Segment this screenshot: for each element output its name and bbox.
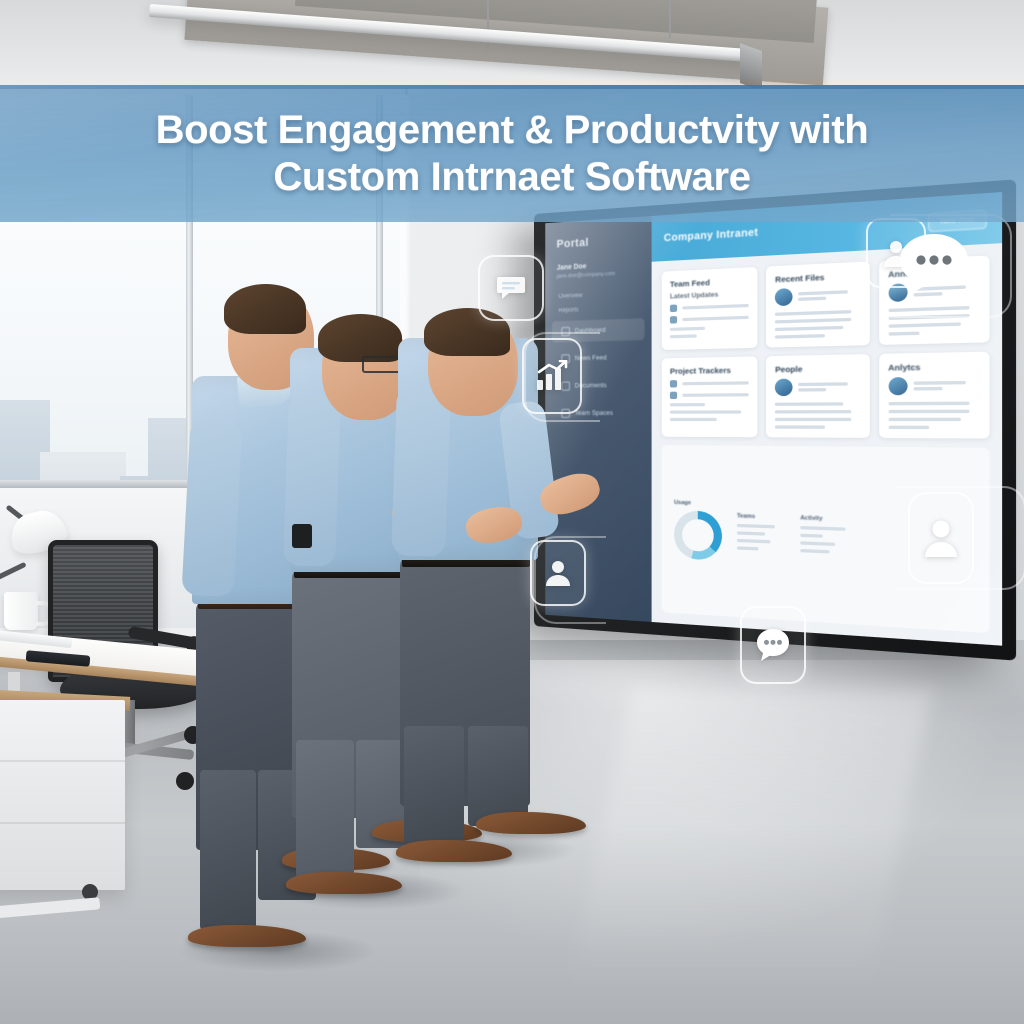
body-line — [775, 402, 843, 406]
author-name — [798, 290, 847, 295]
pedestal-drawer-line — [0, 822, 125, 824]
legend-line — [737, 524, 775, 529]
headline-line-2: Custom Intrnaet Software — [156, 154, 869, 201]
engagement-donut-chart — [674, 510, 722, 560]
body-line — [888, 402, 970, 406]
author-lines — [798, 382, 860, 392]
user-profile-icon-left[interactable] — [530, 540, 586, 606]
leg-left — [404, 726, 464, 846]
list-item — [670, 379, 749, 387]
author-name — [913, 381, 966, 385]
body-line — [775, 326, 843, 331]
author-meta — [913, 387, 943, 391]
sidebar-user-profile[interactable]: Jane Doe jane.doe@company.com — [545, 256, 651, 291]
page-title: Boost Engagement & Productvity with Cust… — [156, 107, 869, 201]
pendant-wire — [487, 0, 489, 53]
user-profile-icon-right[interactable] — [908, 492, 974, 584]
legend-line — [737, 546, 758, 550]
legend-line — [800, 526, 845, 531]
card-projects[interactable]: Project Trackers — [662, 356, 758, 437]
bullet-icon — [670, 392, 677, 399]
chart-heading: Activity — [800, 515, 850, 523]
pendant-light-end — [740, 43, 762, 91]
body-line — [888, 426, 928, 429]
body-line — [775, 310, 851, 316]
card-title: Recent Files — [775, 271, 860, 285]
card-meta — [670, 418, 717, 421]
body-line — [775, 410, 851, 413]
arm-left — [391, 387, 451, 557]
leg-right — [468, 726, 528, 826]
card-title: Anlytcs — [888, 361, 979, 373]
sidebar-logo: Portal — [545, 216, 651, 261]
author-lines — [798, 289, 860, 301]
card-meta — [670, 410, 741, 413]
hair — [318, 314, 402, 362]
list-text — [682, 316, 749, 321]
list-text — [682, 304, 749, 310]
arm — [181, 419, 242, 597]
chart-col-activity: Activity — [800, 515, 850, 554]
card-author — [775, 378, 860, 396]
card-recent[interactable]: Recent Files — [766, 261, 869, 347]
chart-heading: Teams — [737, 513, 785, 521]
list-item — [670, 302, 749, 312]
card-title: People — [775, 363, 860, 374]
hair — [224, 284, 306, 334]
body-line — [888, 410, 970, 414]
legend-line — [800, 549, 830, 554]
chart-heading: Usage — [674, 500, 722, 508]
legend-line — [800, 534, 822, 538]
body-line — [775, 334, 825, 339]
desk-pedestal — [0, 700, 125, 890]
promo-image: Portal Jane Doe jane.doe@company.com Ove… — [0, 0, 1024, 1024]
author-meta — [798, 297, 825, 301]
chart-col-teams: Teams — [737, 513, 785, 551]
headline-line-1: Boost Engagement & Productvity with — [156, 108, 869, 152]
body-line — [888, 418, 961, 421]
dashboard-title: Company Intranet — [664, 226, 759, 243]
floor-reflection — [568, 690, 932, 990]
wrist-watch-icon — [292, 524, 312, 548]
card-meta — [670, 334, 697, 338]
bullet-icon — [670, 305, 677, 313]
avatar — [775, 288, 793, 306]
card-analytics[interactable]: Anlytcs — [879, 352, 990, 439]
body-line — [775, 425, 825, 428]
avatar — [775, 379, 793, 397]
body-line — [888, 332, 919, 336]
list-text — [682, 381, 749, 385]
bullet-icon — [670, 316, 677, 324]
author-name — [798, 382, 847, 386]
leg-left — [296, 740, 354, 878]
list-item — [670, 314, 749, 324]
legend-line — [737, 531, 766, 535]
pendant-wire-2 — [669, 0, 671, 38]
body-line — [888, 322, 961, 328]
list-text — [682, 393, 749, 397]
avatar — [888, 377, 907, 395]
card-meta — [670, 403, 705, 406]
eyeglasses-icon — [362, 356, 402, 373]
card-author — [775, 285, 860, 306]
chat-dots-icon[interactable] — [898, 232, 970, 303]
pedestal-drawer-line — [0, 760, 125, 762]
chart-col-usage: Usage — [674, 500, 722, 561]
body-line — [775, 318, 851, 324]
author-meta — [798, 388, 825, 392]
legend-line — [737, 539, 770, 544]
leg-left — [200, 770, 256, 930]
list-item — [670, 391, 749, 399]
body-line — [775, 418, 851, 421]
card-people[interactable]: People — [766, 354, 869, 438]
card-meta — [670, 327, 705, 331]
chat-dots-icon-lower[interactable] — [740, 606, 806, 684]
message-icon[interactable] — [478, 255, 544, 321]
bar-chart-icon[interactable] — [522, 338, 582, 414]
card-title: Project Trackers — [670, 365, 749, 376]
sidebar-link-reports[interactable]: Reports — [545, 300, 651, 318]
card-author — [888, 376, 979, 395]
chair-caster — [176, 772, 194, 790]
coffee-mug-icon — [4, 592, 38, 630]
legend-line — [800, 541, 835, 546]
headline-banner: Boost Engagement & Productvity with Cust… — [0, 85, 1024, 222]
card-title: Team Feed — [670, 276, 749, 289]
bullet-icon — [670, 380, 677, 387]
author-lines — [913, 380, 979, 390]
card-news[interactable]: Team Feed Latest Updates — [662, 267, 758, 350]
card-subtitle: Latest Updates — [670, 290, 749, 301]
